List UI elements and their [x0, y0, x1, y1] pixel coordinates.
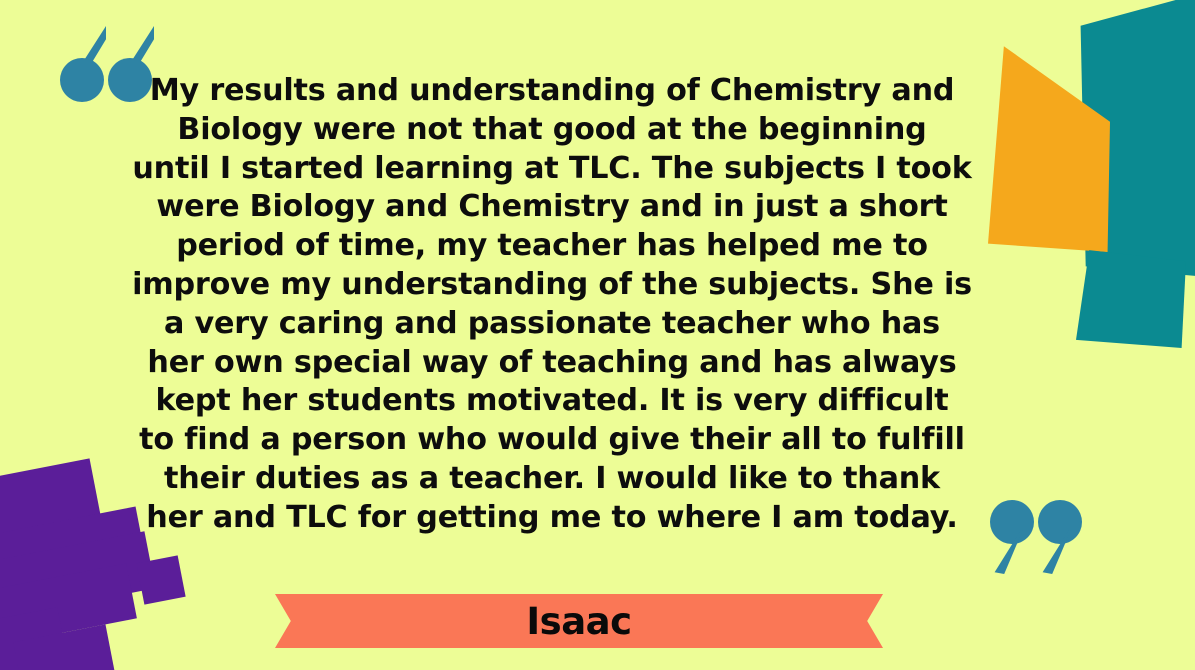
attribution-name: Isaac	[526, 603, 631, 640]
teal-square-small-decoration	[1076, 246, 1186, 348]
testimonial-line: improve my understanding of the subjects…	[116, 266, 987, 305]
orange-quad-decoration	[988, 42, 1110, 252]
testimonial-line: her own special way of teaching and has …	[116, 344, 987, 383]
testimonial-line: period of time, my teacher has helped me…	[116, 227, 987, 266]
attribution-ribbon: Isaac	[275, 594, 883, 648]
testimonial-line: their duties as a teacher. I would like …	[116, 460, 987, 499]
testimonial-line: My results and understanding of Chemistr…	[116, 72, 987, 111]
testimonial-line: a very caring and passionate teacher who…	[116, 305, 987, 344]
testimonial-text: My results and understanding of Chemistr…	[112, 72, 992, 538]
testimonial-line: were Biology and Chemistry and in just a…	[116, 188, 987, 227]
testimonial-line: Biology were not that good at the beginn…	[116, 111, 987, 150]
testimonial-line: to find a person who would give their al…	[116, 421, 987, 460]
testimonial-line: until I started learning at TLC. The sub…	[116, 150, 987, 189]
testimonial-line: kept her students motivated. It is very …	[116, 382, 987, 421]
testimonial-card: My results and understanding of Chemistr…	[0, 0, 1195, 670]
teal-quad-large-decoration	[1050, 0, 1195, 278]
testimonial-line: her and TLC for getting me to where I am…	[116, 499, 987, 538]
closing-quote-icon	[988, 500, 1088, 580]
